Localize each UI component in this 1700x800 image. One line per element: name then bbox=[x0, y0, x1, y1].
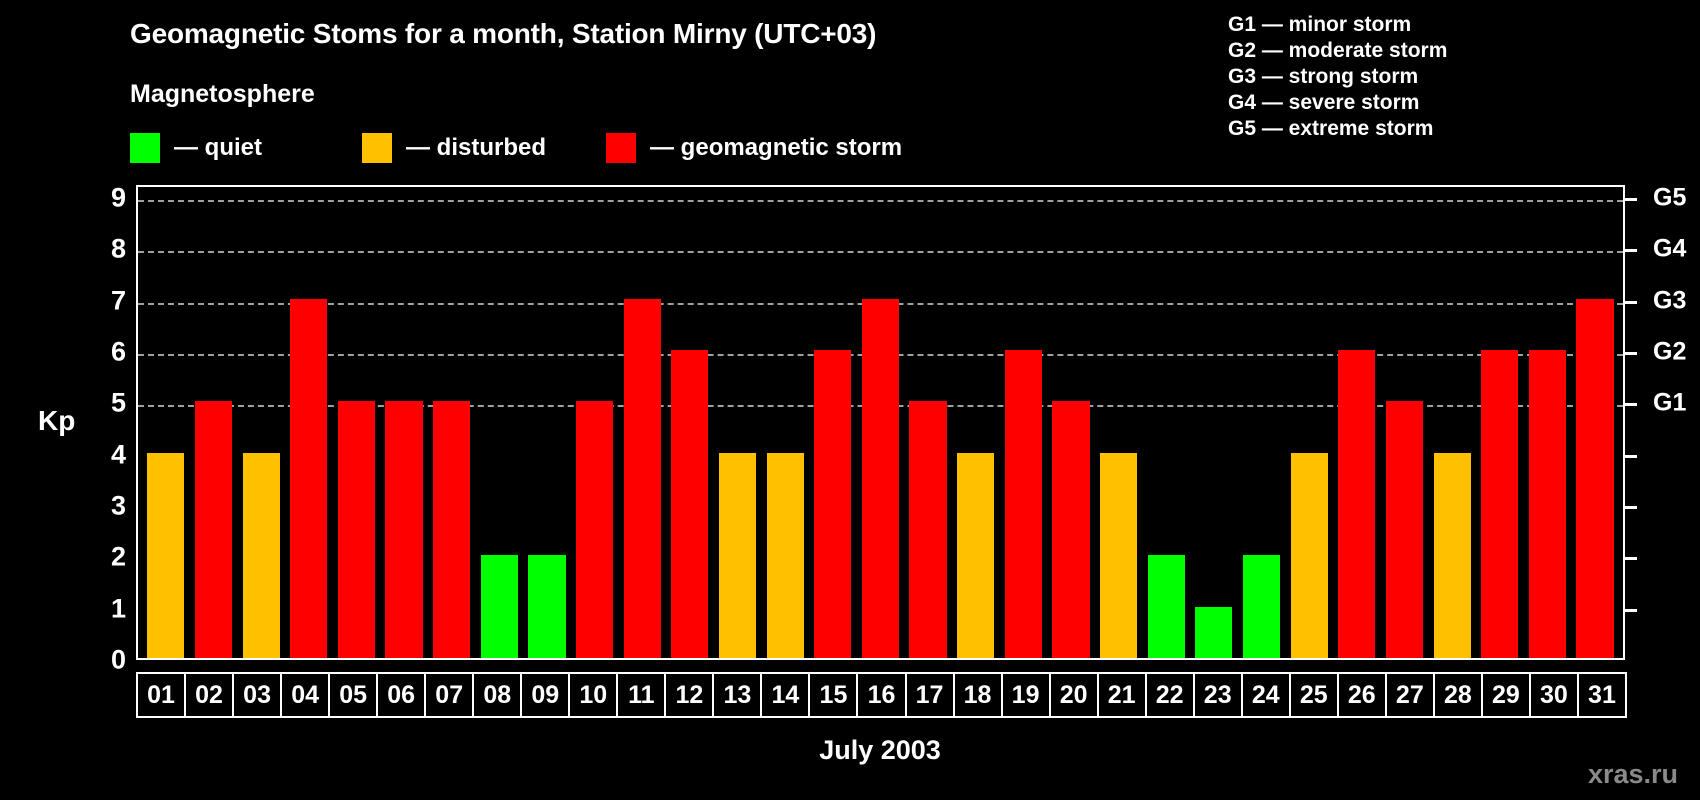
bar-slot-day-24[interactable] bbox=[1238, 187, 1286, 658]
date-cell-03[interactable]: 03 bbox=[232, 672, 282, 718]
bar-series bbox=[138, 187, 1623, 658]
legend-item-quiet: — quiet bbox=[130, 130, 262, 166]
bar-day-01[interactable] bbox=[147, 453, 184, 658]
bar-slot-day-02[interactable] bbox=[190, 187, 238, 658]
date-cell-21[interactable]: 21 bbox=[1097, 672, 1147, 718]
legend-swatch-disturbed bbox=[362, 133, 392, 163]
date-cell-12[interactable]: 12 bbox=[664, 672, 714, 718]
bar-slot-day-12[interactable] bbox=[666, 187, 714, 658]
bar-slot-day-09[interactable] bbox=[523, 187, 571, 658]
g-axis-minor-tick-2 bbox=[1625, 557, 1637, 560]
bar-day-22[interactable] bbox=[1148, 555, 1185, 658]
bar-day-19[interactable] bbox=[1005, 350, 1042, 658]
bar-day-30[interactable] bbox=[1529, 350, 1566, 658]
bar-day-18[interactable] bbox=[957, 453, 994, 658]
x-axis-date-strip: 0102030405060708091011121314151617181920… bbox=[136, 672, 1625, 718]
bar-slot-day-17[interactable] bbox=[904, 187, 952, 658]
bar-day-15[interactable] bbox=[814, 350, 851, 658]
bar-slot-day-29[interactable] bbox=[1476, 187, 1524, 658]
g-axis-label-g3: G3 bbox=[1653, 286, 1686, 315]
bar-day-21[interactable] bbox=[1100, 453, 1137, 658]
date-cell-19[interactable]: 19 bbox=[1001, 672, 1051, 718]
bar-day-05[interactable] bbox=[338, 401, 375, 658]
date-cell-02[interactable]: 02 bbox=[184, 672, 234, 718]
date-cell-31[interactable]: 31 bbox=[1577, 672, 1627, 718]
chart-root: Geomagnetic Stoms for a month, Station M… bbox=[0, 0, 1700, 800]
g-scale-legend: G1 — minor stormG2 — moderate stormG3 — … bbox=[1228, 12, 1447, 142]
bar-day-06[interactable] bbox=[385, 401, 422, 658]
bar-slot-day-10[interactable] bbox=[571, 187, 619, 658]
date-cell-30[interactable]: 30 bbox=[1529, 672, 1579, 718]
g-scale-item-g2: G2 — moderate storm bbox=[1228, 38, 1447, 64]
date-cell-07[interactable]: 07 bbox=[424, 672, 474, 718]
g-axis-tick-g2 bbox=[1625, 352, 1637, 355]
bar-slot-day-27[interactable] bbox=[1381, 187, 1429, 658]
bar-slot-day-01[interactable] bbox=[142, 187, 190, 658]
bar-slot-day-21[interactable] bbox=[1095, 187, 1143, 658]
magnetosphere-legend: — quiet— disturbed— geomagnetic storm bbox=[130, 130, 902, 166]
y-tick-label-3: 3 bbox=[86, 491, 126, 522]
bar-slot-day-13[interactable] bbox=[714, 187, 762, 658]
bar-slot-day-30[interactable] bbox=[1524, 187, 1572, 658]
g-axis-label-g2: G2 bbox=[1653, 338, 1686, 367]
y-tick-label-5: 5 bbox=[86, 388, 126, 419]
y-tick-label-9: 9 bbox=[86, 183, 126, 214]
date-cell-22[interactable]: 22 bbox=[1145, 672, 1195, 718]
date-cell-13[interactable]: 13 bbox=[712, 672, 762, 718]
y-tick-label-8: 8 bbox=[86, 234, 126, 265]
date-cell-26[interactable]: 26 bbox=[1337, 672, 1387, 718]
g-scale-axis: G1G2G3G4G5 bbox=[1625, 185, 1700, 660]
magnetosphere-label: Magnetosphere bbox=[130, 80, 315, 109]
bar-slot-day-03[interactable] bbox=[237, 187, 285, 658]
date-cell-25[interactable]: 25 bbox=[1289, 672, 1339, 718]
g-axis-minor-tick-3 bbox=[1625, 506, 1637, 509]
date-cell-14[interactable]: 14 bbox=[760, 672, 810, 718]
legend-label-quiet: — quiet bbox=[174, 134, 262, 162]
bar-day-16[interactable] bbox=[862, 299, 899, 658]
bar-slot-day-22[interactable] bbox=[1142, 187, 1190, 658]
date-cell-27[interactable]: 27 bbox=[1385, 672, 1435, 718]
bar-day-27[interactable] bbox=[1386, 401, 1423, 658]
g-axis-tick-g4 bbox=[1625, 249, 1637, 252]
g-axis-label-g5: G5 bbox=[1653, 184, 1686, 213]
date-cell-28[interactable]: 28 bbox=[1433, 672, 1483, 718]
date-cell-09[interactable]: 09 bbox=[520, 672, 570, 718]
legend-label-disturbed: — disturbed bbox=[406, 134, 546, 162]
g-scale-item-g4: G4 — severe storm bbox=[1228, 90, 1447, 116]
bar-day-24[interactable] bbox=[1243, 555, 1280, 658]
bar-day-31[interactable] bbox=[1576, 299, 1613, 658]
g-axis-minor-tick-4 bbox=[1625, 455, 1637, 458]
date-cell-01[interactable]: 01 bbox=[136, 672, 186, 718]
g-axis-tick-g5 bbox=[1625, 198, 1637, 201]
y-tick-label-0: 0 bbox=[86, 645, 126, 676]
y-tick-label-1: 1 bbox=[86, 593, 126, 624]
page-title: Geomagnetic Stoms for a month, Station M… bbox=[130, 18, 876, 50]
y-axis-labels: 0123456789 bbox=[60, 185, 126, 660]
bar-slot-day-23[interactable] bbox=[1190, 187, 1238, 658]
bar-slot-day-19[interactable] bbox=[1000, 187, 1048, 658]
date-cell-05[interactable]: 05 bbox=[328, 672, 378, 718]
bar-day-23[interactable] bbox=[1195, 607, 1232, 658]
bar-slot-day-28[interactable] bbox=[1428, 187, 1476, 658]
date-cell-17[interactable]: 17 bbox=[905, 672, 955, 718]
date-cell-18[interactable]: 18 bbox=[953, 672, 1003, 718]
date-cell-06[interactable]: 06 bbox=[376, 672, 426, 718]
bar-slot-day-14[interactable] bbox=[761, 187, 809, 658]
y-tick-label-4: 4 bbox=[86, 439, 126, 470]
date-cell-04[interactable]: 04 bbox=[280, 672, 330, 718]
bar-slot-day-20[interactable] bbox=[1047, 187, 1095, 658]
date-cell-16[interactable]: 16 bbox=[856, 672, 906, 718]
bar-day-03[interactable] bbox=[243, 453, 280, 658]
bar-day-17[interactable] bbox=[909, 401, 946, 658]
date-cell-24[interactable]: 24 bbox=[1241, 672, 1291, 718]
date-cell-11[interactable]: 11 bbox=[616, 672, 666, 718]
date-cell-23[interactable]: 23 bbox=[1193, 672, 1243, 718]
y-tick-label-2: 2 bbox=[86, 542, 126, 573]
bar-day-29[interactable] bbox=[1481, 350, 1518, 658]
bar-day-08[interactable] bbox=[481, 555, 518, 658]
bar-slot-day-16[interactable] bbox=[857, 187, 905, 658]
bar-slot-day-25[interactable] bbox=[1285, 187, 1333, 658]
date-cell-08[interactable]: 08 bbox=[472, 672, 522, 718]
plot-area bbox=[136, 185, 1625, 660]
bar-day-20[interactable] bbox=[1052, 401, 1089, 658]
y-tick-label-7: 7 bbox=[86, 285, 126, 316]
bar-slot-day-15[interactable] bbox=[809, 187, 857, 658]
bar-slot-day-07[interactable] bbox=[428, 187, 476, 658]
legend-label-geomagnetic-storm: — geomagnetic storm bbox=[650, 134, 902, 162]
bar-slot-day-18[interactable] bbox=[952, 187, 1000, 658]
bar-day-10[interactable] bbox=[576, 401, 613, 658]
g-axis-label-g4: G4 bbox=[1653, 235, 1686, 264]
bar-day-12[interactable] bbox=[671, 350, 708, 658]
bar-day-13[interactable] bbox=[719, 453, 756, 658]
g-scale-item-g1: G1 — minor storm bbox=[1228, 12, 1447, 38]
y-tick-label-6: 6 bbox=[86, 337, 126, 368]
date-cell-15[interactable]: 15 bbox=[808, 672, 858, 718]
bar-day-04[interactable] bbox=[290, 299, 327, 658]
bar-slot-day-31[interactable] bbox=[1571, 187, 1619, 658]
bar-day-11[interactable] bbox=[624, 299, 661, 658]
bar-day-26[interactable] bbox=[1338, 350, 1375, 658]
bar-slot-day-04[interactable] bbox=[285, 187, 333, 658]
legend-swatch-geomagnetic-storm bbox=[606, 133, 636, 163]
legend-swatch-quiet bbox=[130, 133, 160, 163]
date-cell-29[interactable]: 29 bbox=[1481, 672, 1531, 718]
date-cell-20[interactable]: 20 bbox=[1049, 672, 1099, 718]
bar-day-09[interactable] bbox=[528, 555, 565, 658]
bar-slot-day-11[interactable] bbox=[618, 187, 666, 658]
x-axis-title: July 2003 bbox=[0, 735, 1700, 766]
watermark: xras.ru bbox=[1588, 759, 1678, 790]
g-axis-label-g1: G1 bbox=[1653, 389, 1686, 418]
bar-day-28[interactable] bbox=[1434, 453, 1471, 658]
bar-slot-day-26[interactable] bbox=[1333, 187, 1381, 658]
bar-slot-day-08[interactable] bbox=[475, 187, 523, 658]
bar-day-25[interactable] bbox=[1291, 453, 1328, 658]
date-cell-10[interactable]: 10 bbox=[568, 672, 618, 718]
bar-day-07[interactable] bbox=[433, 401, 470, 658]
g-axis-minor-tick-1 bbox=[1625, 609, 1637, 612]
bar-day-02[interactable] bbox=[195, 401, 232, 658]
g-scale-item-g5: G5 — extreme storm bbox=[1228, 116, 1447, 142]
legend-item-disturbed: — disturbed bbox=[362, 130, 546, 166]
legend-item-geomagnetic-storm: — geomagnetic storm bbox=[606, 130, 902, 166]
bar-slot-day-06[interactable] bbox=[380, 187, 428, 658]
g-scale-item-g3: G3 — strong storm bbox=[1228, 64, 1447, 90]
g-axis-tick-g1 bbox=[1625, 403, 1637, 406]
bar-slot-day-05[interactable] bbox=[333, 187, 381, 658]
bar-day-14[interactable] bbox=[767, 453, 804, 658]
g-axis-tick-g3 bbox=[1625, 301, 1637, 304]
